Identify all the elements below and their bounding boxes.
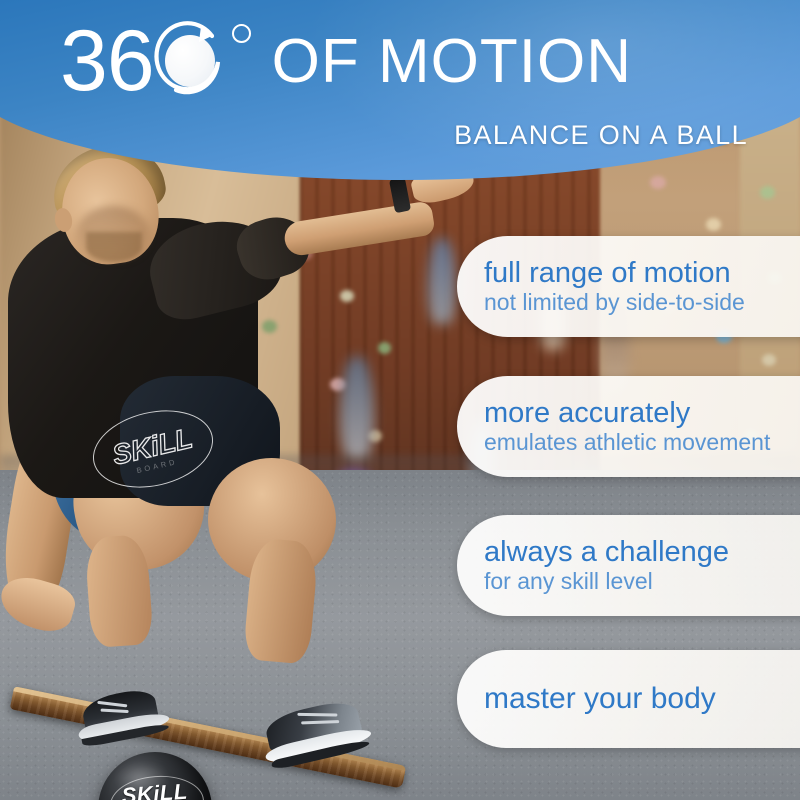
- athlete: SKiLL BOARD: [0, 140, 440, 760]
- feature-headline: always a challenge: [484, 537, 800, 567]
- headline-of-motion: OF MOTION: [272, 26, 632, 97]
- feature-pill-master-your-body[interactable]: master your body: [457, 650, 800, 748]
- skill-board-ball: SKiLL BOARD: [98, 752, 212, 800]
- headline-digits: 36: [60, 18, 154, 104]
- feature-subline: emulates athletic movement: [484, 430, 800, 455]
- feature-pill-full-range-of-motion[interactable]: full range of motion not limited by side…: [457, 236, 800, 337]
- feature-pill-always-a-challenge[interactable]: always a challenge for any skill level: [457, 515, 800, 616]
- feature-headline: more accurately: [484, 398, 800, 428]
- headline-group: 36 OF MOTION: [60, 18, 632, 104]
- feature-headline: master your body: [484, 683, 800, 715]
- climbing-hold: [762, 354, 776, 366]
- banner-subtitle: BALANCE ON A BALL: [0, 120, 748, 151]
- climbing-hold: [706, 218, 721, 231]
- feature-pill-more-accurately[interactable]: more accurately emulates athletic moveme…: [457, 376, 800, 477]
- degree-ring-icon: [232, 24, 251, 43]
- feature-subline: for any skill level: [484, 569, 800, 594]
- promo-graphic: SKiLL BOARD: [0, 0, 800, 800]
- beard: [86, 232, 142, 262]
- feature-subline: not limited by side-to-side: [484, 290, 800, 315]
- circular-arrow-icon: [152, 18, 230, 104]
- feature-headline: full range of motion: [484, 258, 800, 288]
- header-banner: 36 OF MOTION BALANCE ON A BALL: [0, 0, 800, 200]
- left-shoe: [72, 685, 171, 750]
- headline-360: 36: [60, 18, 256, 104]
- right-arm: [282, 200, 435, 257]
- left-hand: [0, 571, 79, 638]
- rotation-ball-mark: [152, 18, 230, 104]
- degree-symbol: [230, 18, 256, 104]
